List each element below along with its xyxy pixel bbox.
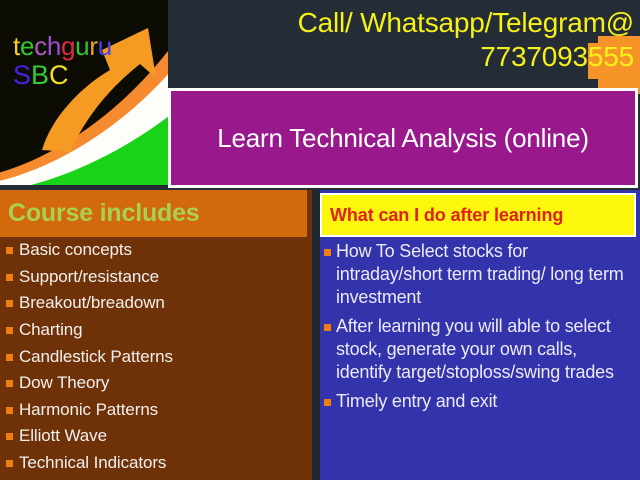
course-title-text: Learn Technical Analysis (online) bbox=[217, 123, 589, 154]
square-bullet-icon bbox=[324, 399, 331, 406]
course-list-item-label: Technical Indicators bbox=[19, 451, 166, 476]
course-list-item: Support/resistance bbox=[0, 265, 312, 290]
outcome-list-item: After learning you will able to select s… bbox=[320, 315, 640, 384]
course-includes-title: Course includes bbox=[0, 199, 200, 228]
promo-slide: techguru SBC Call/ Whatsapp/Telegram@ 77… bbox=[0, 0, 640, 480]
course-title-banner: Learn Technical Analysis (online) bbox=[168, 88, 638, 188]
square-bullet-icon bbox=[6, 354, 13, 361]
sbc-letter-2: C bbox=[49, 60, 69, 90]
techguru-letter-0: t bbox=[13, 31, 20, 61]
course-includes-list: Basic conceptsSupport/resistanceBreakout… bbox=[0, 238, 312, 478]
outcome-list-item-label: After learning you will able to select s… bbox=[336, 315, 636, 384]
techguru-letter-5: u bbox=[75, 31, 89, 61]
sbc-letter-0: S bbox=[13, 60, 31, 90]
course-list-item: Candlestick Patterns bbox=[0, 345, 312, 370]
techguru-letter-4: g bbox=[61, 31, 75, 61]
outcomes-title: What can I do after learning bbox=[322, 205, 563, 226]
contact-phone-number: 7737093555 bbox=[186, 40, 634, 74]
techguru-letter-2: c bbox=[34, 31, 47, 61]
techguru-letter-3: h bbox=[47, 31, 61, 61]
square-bullet-icon bbox=[324, 324, 331, 331]
square-bullet-icon bbox=[6, 460, 13, 467]
course-list-item: Breakout/breadown bbox=[0, 291, 312, 316]
course-list-item: Elliott Wave bbox=[0, 424, 312, 449]
course-list-item-label: Harmonic Patterns bbox=[19, 398, 158, 423]
square-bullet-icon bbox=[6, 274, 13, 281]
course-list-item-label: Charting bbox=[19, 318, 82, 343]
outcome-list-item: How To Select stocks for intraday/short … bbox=[320, 240, 640, 309]
course-list-item: Dow Theory bbox=[0, 371, 312, 396]
techguru-letter-6: r bbox=[89, 31, 97, 61]
square-bullet-icon bbox=[6, 380, 13, 387]
course-list-item: Basic concepts bbox=[0, 238, 312, 263]
sbc-letter-1: B bbox=[31, 60, 49, 90]
techguru-letter-7: u bbox=[98, 31, 112, 61]
course-list-item: Harmonic Patterns bbox=[0, 398, 312, 423]
course-list-item-label: Dow Theory bbox=[19, 371, 109, 396]
course-list-item: Charting bbox=[0, 318, 312, 343]
techguru-letter-1: e bbox=[20, 31, 34, 61]
outcomes-header: What can I do after learning bbox=[320, 193, 636, 237]
brand-wordmark: techguru SBC bbox=[13, 33, 163, 89]
course-list-item-label: Candlestick Patterns bbox=[19, 345, 173, 370]
course-list-item-label: Support/resistance bbox=[19, 265, 159, 290]
course-includes-header: Course includes bbox=[0, 190, 307, 237]
brand-line-techguru: techguru bbox=[13, 33, 163, 60]
square-bullet-icon bbox=[6, 247, 13, 254]
brand-logo-box: techguru SBC bbox=[0, 0, 168, 185]
course-list-item-label: Breakout/breadown bbox=[19, 291, 165, 316]
outcomes-panel: What can I do after learning How To Sele… bbox=[320, 190, 640, 480]
brand-line-sbc: SBC bbox=[13, 62, 163, 90]
contact-channels-label: Call/ Whatsapp/Telegram@ bbox=[186, 6, 634, 40]
outcome-list-item: Timely entry and exit bbox=[320, 390, 640, 413]
contact-block: Call/ Whatsapp/Telegram@ 7737093555 bbox=[186, 6, 634, 74]
square-bullet-icon bbox=[324, 249, 331, 256]
course-list-item: Technical Indicators bbox=[0, 451, 312, 476]
course-list-item-label: Elliott Wave bbox=[19, 424, 107, 449]
outcome-list-item-label: How To Select stocks for intraday/short … bbox=[336, 240, 636, 309]
outcomes-list: How To Select stocks for intraday/short … bbox=[320, 240, 640, 419]
outcome-list-item-label: Timely entry and exit bbox=[336, 390, 497, 413]
square-bullet-icon bbox=[6, 300, 13, 307]
course-list-item-label: Basic concepts bbox=[19, 238, 132, 263]
square-bullet-icon bbox=[6, 407, 13, 414]
course-includes-panel: Course includes Basic conceptsSupport/re… bbox=[0, 190, 312, 480]
square-bullet-icon bbox=[6, 433, 13, 440]
square-bullet-icon bbox=[6, 327, 13, 334]
